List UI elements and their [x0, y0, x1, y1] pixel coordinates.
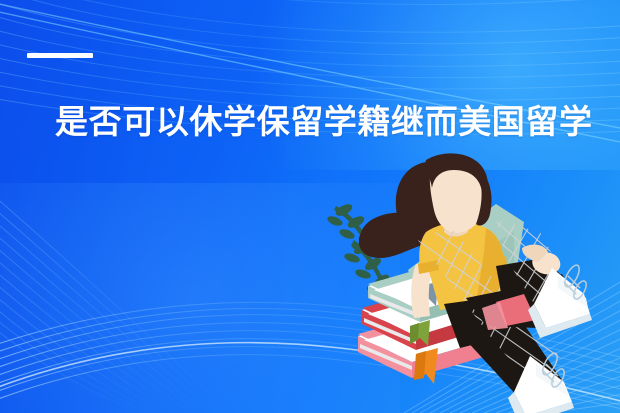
page-title: 是否可以休学保留学籍继而美国留学 [55, 103, 593, 142]
illustration-woman-on-books [300, 148, 620, 413]
accent-underline [27, 53, 93, 58]
promo-banner: 是否可以休学保留学籍继而美国留学 [0, 0, 620, 413]
